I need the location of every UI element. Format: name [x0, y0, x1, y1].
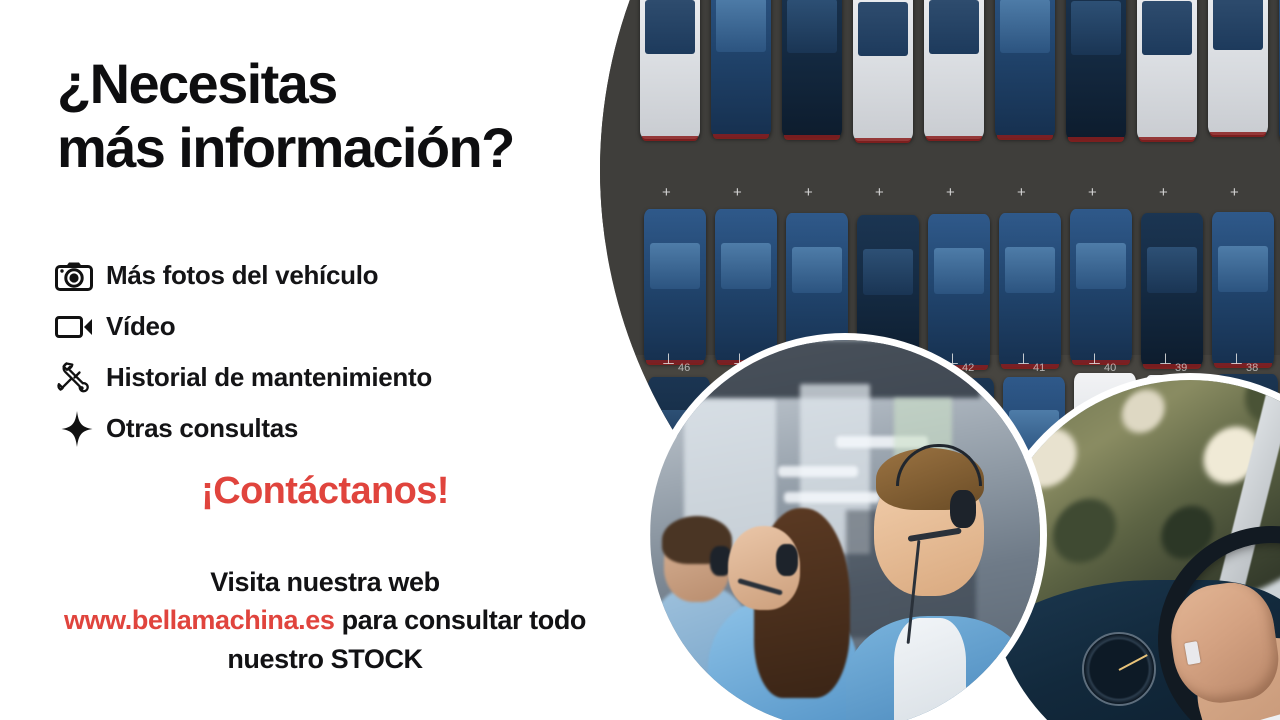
car-taillight: [784, 135, 839, 140]
parked-car: [924, 0, 984, 139]
car-taillight: [926, 136, 981, 141]
page-title: ¿Necesitas más información?: [57, 52, 697, 180]
list-item-video: Vídeo: [50, 301, 650, 352]
text-column: ¿Necesitas más información? Más fotos de…: [0, 0, 690, 720]
video-camera-icon: [50, 305, 106, 349]
car-taillight: [855, 138, 910, 143]
car-taillight: [1210, 132, 1265, 137]
car-taillight: [1068, 137, 1123, 142]
headline-line-2: más información?: [57, 116, 697, 180]
list-item-more-photos: Más fotos del vehículo: [50, 250, 650, 301]
parking-plus-mark: +: [946, 185, 955, 200]
parking-stall-mark: ⊥: [1088, 352, 1101, 367]
parking-plus-mark: +: [733, 185, 742, 200]
website-url[interactable]: www.bellamachina.es: [64, 605, 335, 635]
website-line-3: nuestro STOCK: [0, 640, 650, 678]
agent-man-earcup: [950, 490, 976, 528]
parked-car: [1070, 209, 1132, 363]
parking-plus-mark: +: [1230, 185, 1239, 200]
parking-plus-mark: +: [1159, 185, 1168, 200]
website-block: Visita nuestra web www.bellamachina.es p…: [0, 563, 650, 678]
parking-plus-mark: +: [1088, 185, 1097, 200]
website-line-2-rest: para consultar todo: [334, 605, 586, 635]
poster-canvas: ++++++++++++++⊥46⊥45⊥44⊥43⊥42⊥41⊥40⊥39⊥3…: [0, 0, 1280, 720]
car-taillight: [997, 135, 1052, 140]
camera-icon: [50, 254, 106, 298]
parked-car: [1212, 212, 1274, 366]
parked-car: [853, 0, 913, 141]
contact-cta-text: ¡Contáctanos!: [0, 470, 650, 513]
parked-car: [995, 0, 1055, 138]
list-item-label: Historial de mantenimiento: [106, 362, 432, 393]
parked-car: [782, 0, 842, 138]
parked-car: [711, 0, 771, 137]
feature-list: Más fotos del vehículo Vídeo: [50, 250, 650, 454]
parked-car: [1137, 0, 1197, 140]
parked-car: [1208, 0, 1268, 135]
list-item-maintenance-history: Historial de mantenimiento: [50, 352, 650, 403]
website-line-1: Visita nuestra web: [0, 563, 650, 601]
wrench-tools-icon: [50, 356, 106, 400]
speedometer-gauge: [1082, 632, 1156, 706]
list-item-other-queries: Otras consultas: [50, 403, 650, 454]
parking-plus-mark: +: [875, 185, 884, 200]
parking-stall-number: 39: [1175, 362, 1187, 374]
list-item-label: Vídeo: [106, 311, 175, 342]
parking-plus-mark: +: [804, 185, 813, 200]
ceiling-light-2: [778, 466, 858, 477]
parked-car: [1066, 0, 1126, 140]
car-taillight: [713, 134, 768, 139]
parked-car: [1141, 213, 1203, 367]
parking-stall-number: 40: [1104, 362, 1116, 374]
ceiling-light-3: [784, 492, 880, 503]
agent-woman-earcup: [776, 544, 798, 576]
agent-man-tshirt: [894, 618, 966, 720]
gauge-needle: [1119, 654, 1148, 671]
website-line-2: www.bellamachina.es para consultar todo: [0, 601, 650, 639]
sparkle-star-icon: [50, 407, 106, 451]
call-center-agents-photo: [650, 340, 1040, 720]
parking-stall-number: 38: [1246, 362, 1258, 374]
headline-line-1: ¿Necesitas: [57, 52, 337, 115]
parking-stall-mark: ⊥: [1230, 352, 1243, 367]
list-item-label: Más fotos del vehículo: [106, 260, 378, 291]
car-taillight: [1139, 137, 1194, 142]
parking-stall-mark: ⊥: [1159, 352, 1172, 367]
parking-plus-mark: +: [1017, 185, 1026, 200]
list-item-label: Otras consultas: [106, 413, 298, 444]
